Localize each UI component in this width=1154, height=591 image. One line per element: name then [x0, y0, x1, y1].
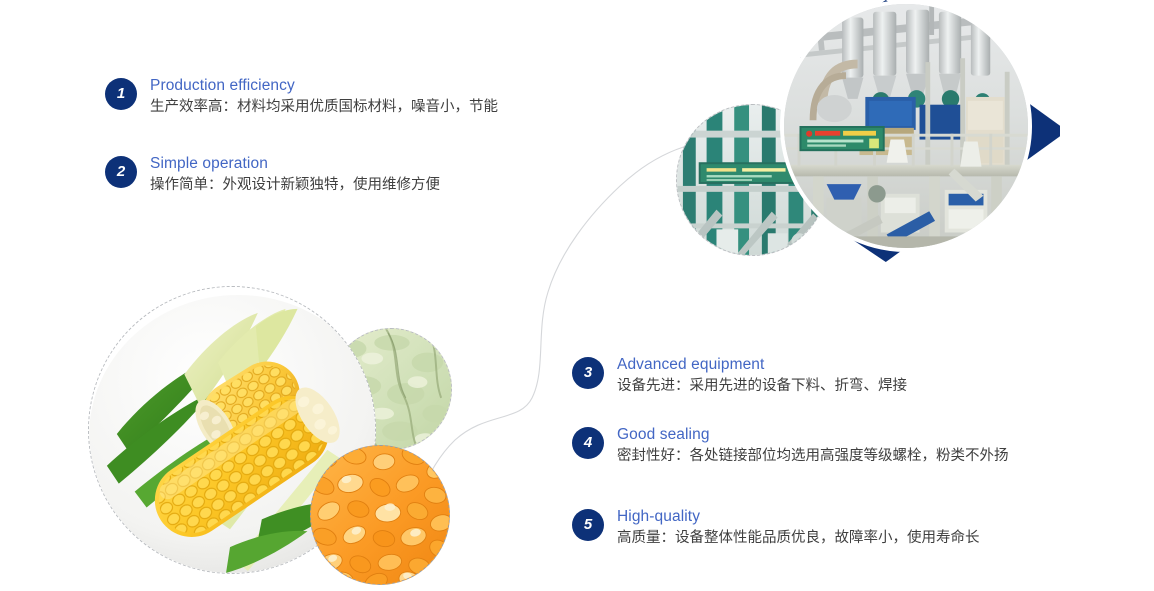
feature-title-2: Simple operation [150, 154, 440, 173]
feature-desc-3: 设备先进：采用先进的设备下料、折弯、焊接 [617, 375, 907, 397]
feature-title-5: High-quality [617, 507, 980, 526]
feature-item-1[interactable]: 1 Production efficiency 生产效率高：材料均采用优质国标材… [105, 76, 498, 118]
feature-text-3: Advanced equipment 设备先进：采用先进的设备下料、折弯、焊接 [617, 355, 907, 397]
corn-grits-kernels-photo [310, 445, 450, 585]
feature-highlight-page: 1 Production efficiency 生产效率高：材料均采用优质国标材… [0, 0, 1154, 591]
feature-number-badge-1: 1 [105, 78, 137, 110]
corn-media-cluster [88, 286, 458, 591]
feature-title-3: Advanced equipment [617, 355, 907, 374]
flour-milling-plant-photo [780, 0, 1032, 252]
feature-item-2[interactable]: 2 Simple operation 操作简单：外观设计新颖独特，使用维修方便 [105, 154, 440, 196]
feature-desc-4: 密封性好：各处链接部位均选用高强度等级螺栓，粉类不外扬 [617, 445, 1009, 467]
feature-desc-5: 高质量：设备整体性能品质优良，故障率小，使用寿命长 [617, 527, 980, 549]
feature-text-5: High-quality 高质量：设备整体性能品质优良，故障率小，使用寿命长 [617, 507, 980, 549]
feature-number-badge-5: 5 [572, 509, 604, 541]
feature-number-badge-2: 2 [105, 156, 137, 188]
feature-text-2: Simple operation 操作简单：外观设计新颖独特，使用维修方便 [150, 154, 440, 196]
feature-desc-1: 生产效率高：材料均采用优质国标材料，噪音小，节能 [150, 96, 498, 118]
feature-text-4: Good sealing 密封性好：各处链接部位均选用高强度等级螺栓，粉类不外扬 [617, 425, 1009, 467]
feature-number-badge-4: 4 [572, 427, 604, 459]
machinery-media-cluster [660, 0, 1070, 274]
feature-item-3[interactable]: 3 Advanced equipment 设备先进：采用先进的设备下料、折弯、焊… [572, 355, 907, 397]
feature-title-1: Production efficiency [150, 76, 498, 95]
feature-text-1: Production efficiency 生产效率高：材料均采用优质国标材料，… [150, 76, 498, 118]
feature-number-badge-3: 3 [572, 357, 604, 389]
feature-item-4[interactable]: 4 Good sealing 密封性好：各处链接部位均选用高强度等级螺栓，粉类不… [572, 425, 1009, 467]
feature-title-4: Good sealing [617, 425, 1009, 444]
feature-item-5[interactable]: 5 High-quality 高质量：设备整体性能品质优良，故障率小，使用寿命长 [572, 507, 980, 549]
feature-desc-2: 操作简单：外观设计新颖独特，使用维修方便 [150, 174, 440, 196]
